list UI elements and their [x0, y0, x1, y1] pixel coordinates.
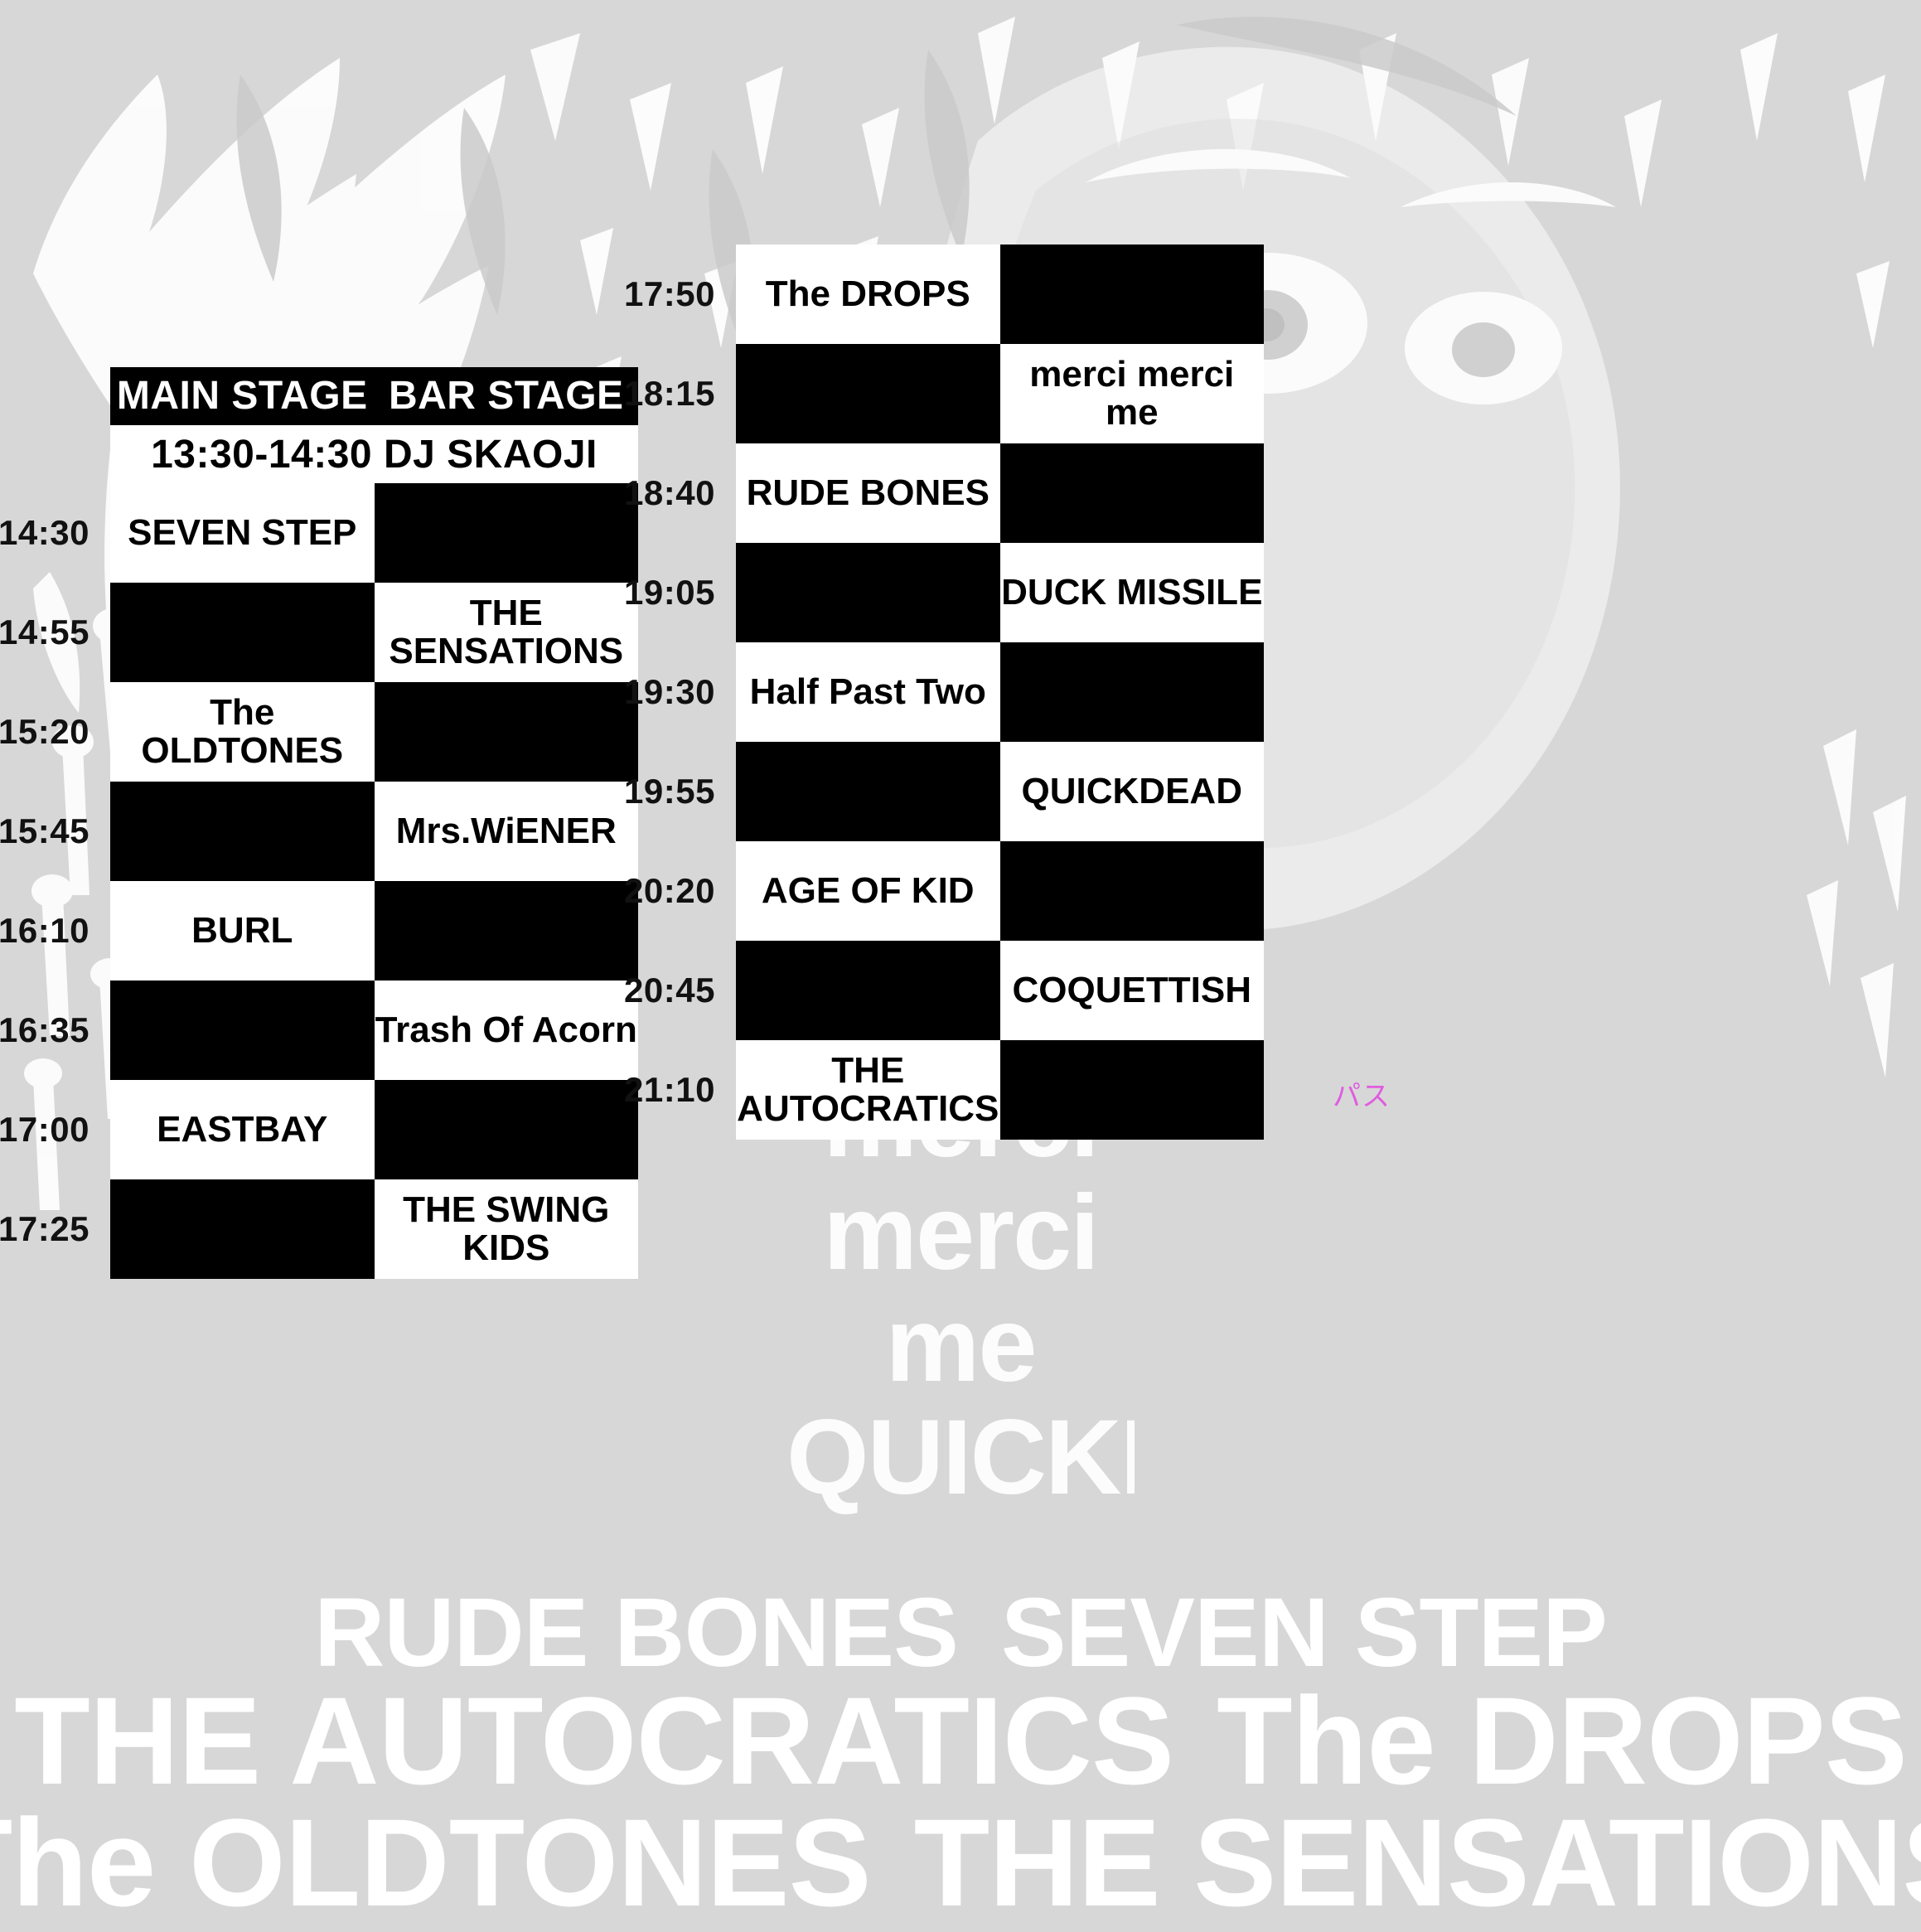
table-row: 15:45Mrs.WiENER: [110, 782, 638, 881]
schedule-rows-early: 14:30SEVEN STEP14:55THE SENSATIONS15:20T…: [110, 483, 638, 1279]
slot-main-stage: [110, 1179, 375, 1279]
row-time-label: 14:55: [0, 613, 110, 652]
slot-main-stage: [736, 742, 1000, 841]
slot-bar-stage: QUICKDEAD: [1000, 742, 1265, 841]
slot-main-stage: [736, 941, 1000, 1040]
table-row: 19:30Half Past Two: [736, 642, 1264, 742]
table-row: 18:15merci merci me: [736, 344, 1264, 443]
slot-main-stage: RUDE BONES: [736, 443, 1000, 543]
slot-bar-stage: [375, 881, 639, 981]
table-row: 16:10BURL: [110, 881, 638, 981]
slot-main-stage: THE AUTOCRATICS: [736, 1040, 1000, 1140]
row-time-label: 19:05: [603, 573, 736, 613]
schedule-table-early: MAIN STAGE BAR STAGE 13:30-14:30 DJ SKAO…: [110, 367, 638, 1279]
slot-bar-stage: [1000, 841, 1265, 941]
table-row: 15:20The OLDTONES: [110, 682, 638, 782]
table-row: 14:55THE SENSATIONS: [110, 583, 638, 682]
table-row: 20:45COQUETTISH: [736, 941, 1264, 1040]
schedule-table-late: 17:50The DROPS18:15merci merci me18:40RU…: [736, 245, 1264, 1140]
table-row: 21:10THE AUTOCRATICS: [736, 1040, 1264, 1140]
slot-bar-stage: THE SWING KIDS: [375, 1179, 639, 1279]
row-time-label: 17:50: [603, 274, 736, 314]
row-time-label: 16:10: [0, 911, 110, 951]
slot-main-stage: [736, 543, 1000, 642]
row-time-label: 18:15: [603, 374, 736, 414]
slot-main-stage: EASTBAY: [110, 1080, 375, 1179]
slot-bar-stage: merci merci me: [1000, 344, 1265, 443]
row-time-label: 16:35: [0, 1010, 110, 1050]
slot-bar-stage: [1000, 1040, 1265, 1140]
slot-bar-stage: Mrs.WiENER: [375, 782, 639, 881]
slot-main-stage: Half Past Two: [736, 642, 1000, 742]
table-row: 16:35Trash Of Acorn: [110, 981, 638, 1080]
slot-bar-stage: COQUETTISH: [1000, 941, 1265, 1040]
header-main-stage: MAIN STAGE: [110, 376, 375, 416]
table-row: 19:55QUICKDEAD: [736, 742, 1264, 841]
stage-header-row: MAIN STAGE BAR STAGE: [110, 367, 638, 425]
timetable-board: MAIN STAGE BAR STAGE 13:30-14:30 DJ SKAO…: [0, 0, 1921, 1921]
slot-bar-stage: THE SENSATIONS: [375, 583, 639, 682]
slot-main-stage: BURL: [110, 881, 375, 981]
slot-bar-stage: [1000, 443, 1265, 543]
row-time-label: 19:55: [603, 772, 736, 811]
row-time-label: 17:00: [0, 1110, 110, 1150]
slot-bar-stage: [375, 682, 639, 782]
slot-main-stage: AGE OF KID: [736, 841, 1000, 941]
slot-bar-stage: DUCK MISSILE: [1000, 543, 1265, 642]
slot-bar-stage: Trash Of Acorn: [375, 981, 639, 1080]
slot-bar-stage: [375, 483, 639, 583]
slot-bar-stage: [375, 1080, 639, 1179]
slot-main-stage: [110, 981, 375, 1080]
row-time-label: 20:20: [603, 871, 736, 911]
table-row: 17:50The DROPS: [736, 245, 1264, 344]
row-time-label: 19:30: [603, 672, 736, 712]
table-row: 14:30SEVEN STEP: [110, 483, 638, 583]
slot-bar-stage: [1000, 642, 1265, 742]
table-row: 17:00EASTBAY: [110, 1080, 638, 1179]
slot-main-stage: The DROPS: [736, 245, 1000, 344]
row-time-label: 15:45: [0, 811, 110, 851]
slot-main-stage: [736, 344, 1000, 443]
slot-main-stage: The OLDTONES: [110, 682, 375, 782]
table-row: 19:05DUCK MISSILE: [736, 543, 1264, 642]
dj-slot-row: 13:30-14:30 DJ SKAOJI: [110, 425, 638, 483]
header-bar-stage: BAR STAGE: [375, 376, 639, 416]
table-row: 20:20AGE OF KID: [736, 841, 1264, 941]
slot-main-stage: SEVEN STEP: [110, 483, 375, 583]
row-time-label: 20:45: [603, 971, 736, 1010]
row-time-label: 18:40: [603, 473, 736, 513]
table-row: 17:25THE SWING KIDS: [110, 1179, 638, 1279]
slot-main-stage: [110, 782, 375, 881]
slot-bar-stage: [1000, 245, 1265, 344]
table-row: 18:40RUDE BONES: [736, 443, 1264, 543]
row-time-label: 21:10: [603, 1070, 736, 1110]
schedule-rows-late: 17:50The DROPS18:15merci merci me18:40RU…: [736, 245, 1264, 1140]
row-time-label: 15:20: [0, 712, 110, 752]
row-time-label: 17:25: [0, 1209, 110, 1249]
slot-main-stage: [110, 583, 375, 682]
row-time-label: 14:30: [0, 513, 110, 553]
